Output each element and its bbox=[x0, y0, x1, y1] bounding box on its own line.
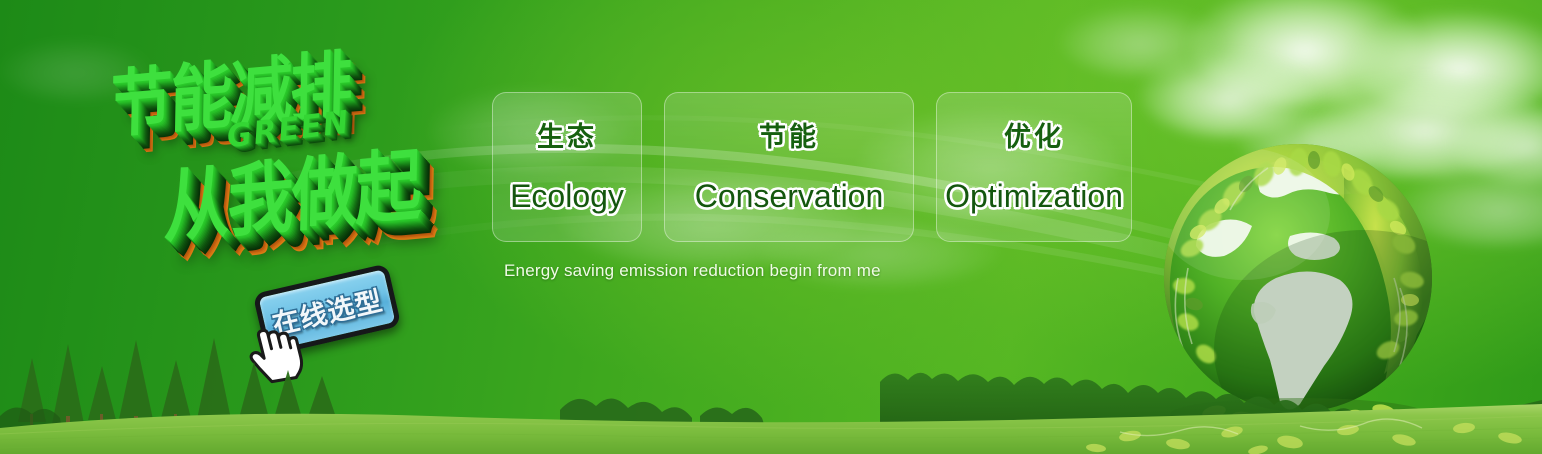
cloud-icon bbox=[1140, 52, 1320, 138]
feature-card-en-label: Conservation bbox=[695, 178, 884, 215]
banner-tagline: Energy saving emission reduction begin f… bbox=[504, 261, 881, 281]
feature-card-en-label: Ecology bbox=[510, 178, 624, 215]
tree-line-icon bbox=[0, 338, 766, 440]
feature-card-cn-label: 生态 bbox=[537, 115, 597, 154]
logo-line-bottom: 从我做起 bbox=[163, 121, 421, 259]
feature-card-optimization[interactable]: 优化 Optimization bbox=[936, 92, 1132, 242]
feature-card-cn-label: 优化 bbox=[1004, 115, 1064, 154]
feature-card-ecology[interactable]: 生态 Ecology bbox=[492, 92, 642, 242]
feature-card-list: 生态 Ecology 节能 Conservation 优化 Optimizati… bbox=[492, 92, 1132, 242]
feature-card-cn-label: 节能 bbox=[759, 115, 819, 154]
cloud-icon bbox=[1190, 0, 1420, 104]
cloud-icon bbox=[1450, 104, 1542, 184]
feature-card-en-label: Optimization bbox=[945, 178, 1123, 215]
green-banner: 节能减排 GREEN 从我做起 在线选型 生态 Ecology 节能 Conse… bbox=[0, 0, 1542, 454]
cloud-icon bbox=[1060, 6, 1220, 76]
feature-card-conservation[interactable]: 节能 Conservation bbox=[664, 92, 914, 242]
logo-3d-text: 节能减排 GREEN 从我做起 bbox=[94, 28, 496, 280]
hand-pointer-icon bbox=[243, 318, 305, 384]
leafy-globe-icon bbox=[1148, 128, 1448, 428]
cloud-icon bbox=[1350, 12, 1542, 116]
